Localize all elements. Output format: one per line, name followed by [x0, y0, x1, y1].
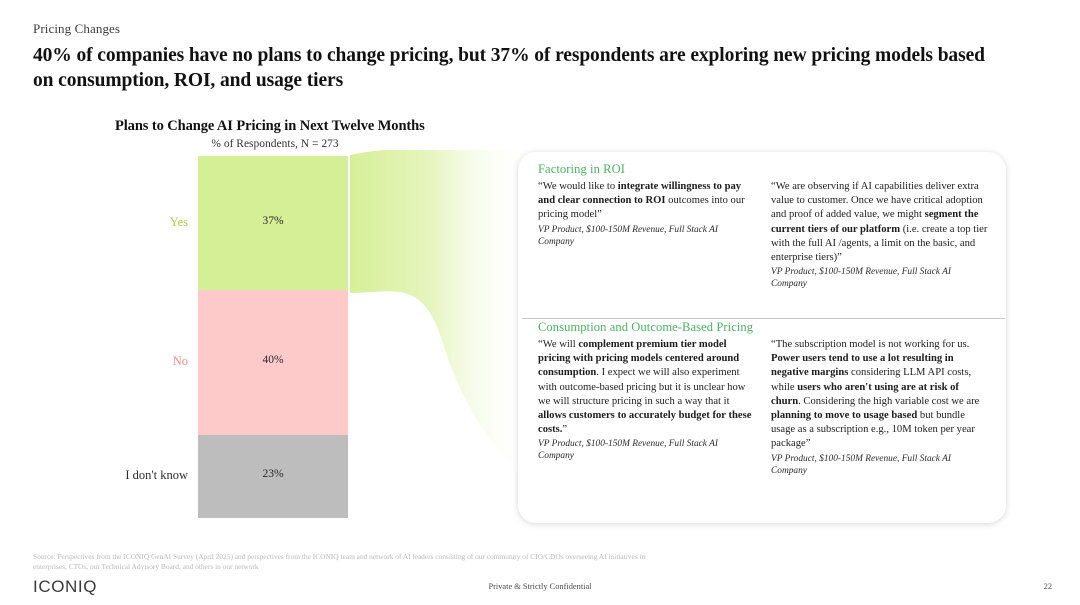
quotes-card: Factoring in ROI “We would like to integ…: [518, 152, 1006, 523]
bar-value-label: 23%: [198, 468, 348, 480]
chart-container: Plans to Change AI Pricing in Next Twelv…: [0, 118, 520, 538]
bar-value-label: 40%: [198, 354, 348, 366]
quote-attribution: VP Product, $100-150M Revenue, Full Stac…: [538, 438, 755, 462]
category-label-yes: Yes: [170, 215, 188, 230]
bar-segment-yes: 37%: [198, 156, 348, 290]
confidentiality-notice: Private & Strictly Confidential: [0, 582, 1080, 591]
quote-item: “The subscription model is not working f…: [771, 338, 988, 477]
quote-attribution: VP Product, $100-150M Revenue, Full Stac…: [771, 453, 988, 477]
quote-section-roi: Factoring in ROI “We would like to integ…: [538, 162, 988, 317]
quote-item: “We would like to integrate willingness …: [538, 180, 755, 290]
bar-segment-no: 40%: [198, 290, 348, 435]
category-label-i-don-t-know: I don't know: [125, 468, 188, 483]
source-note: Source: Perspectives from the ICONIQ Gen…: [33, 552, 653, 571]
quote-text: “We are observing if AI capabilities del…: [771, 180, 988, 265]
quote-item: “We will complement premium tier model p…: [538, 338, 755, 477]
bar-segment-i-don-t-know: 23%: [198, 435, 348, 518]
quote-attribution: VP Product, $100-150M Revenue, Full Stac…: [538, 224, 755, 248]
slide-eyebrow: Pricing Changes: [33, 21, 120, 37]
slide-headline: 40% of companies have no plans to change…: [33, 43, 1008, 93]
quote-section-heading: Factoring in ROI: [538, 162, 988, 177]
page-number: 22: [1044, 582, 1052, 591]
quote-attribution: VP Product, $100-150M Revenue, Full Stac…: [771, 266, 988, 290]
quote-section-heading: Consumption and Outcome-Based Pricing: [538, 320, 988, 335]
quote-text: “The subscription model is not working f…: [771, 338, 988, 452]
stacked-bar-plot: 37%40%23% YesNoI don't know: [0, 118, 520, 538]
quote-text: “We will complement premium tier model p…: [538, 338, 755, 437]
quote-section-consumption: Consumption and Outcome-Based Pricing “W…: [538, 320, 988, 515]
category-label-no: No: [173, 354, 188, 369]
quote-item: “We are observing if AI capabilities del…: [771, 180, 988, 290]
quote-text: “We would like to integrate willingness …: [538, 180, 755, 223]
bar-value-label: 37%: [198, 215, 348, 227]
section-divider: [522, 318, 1005, 319]
